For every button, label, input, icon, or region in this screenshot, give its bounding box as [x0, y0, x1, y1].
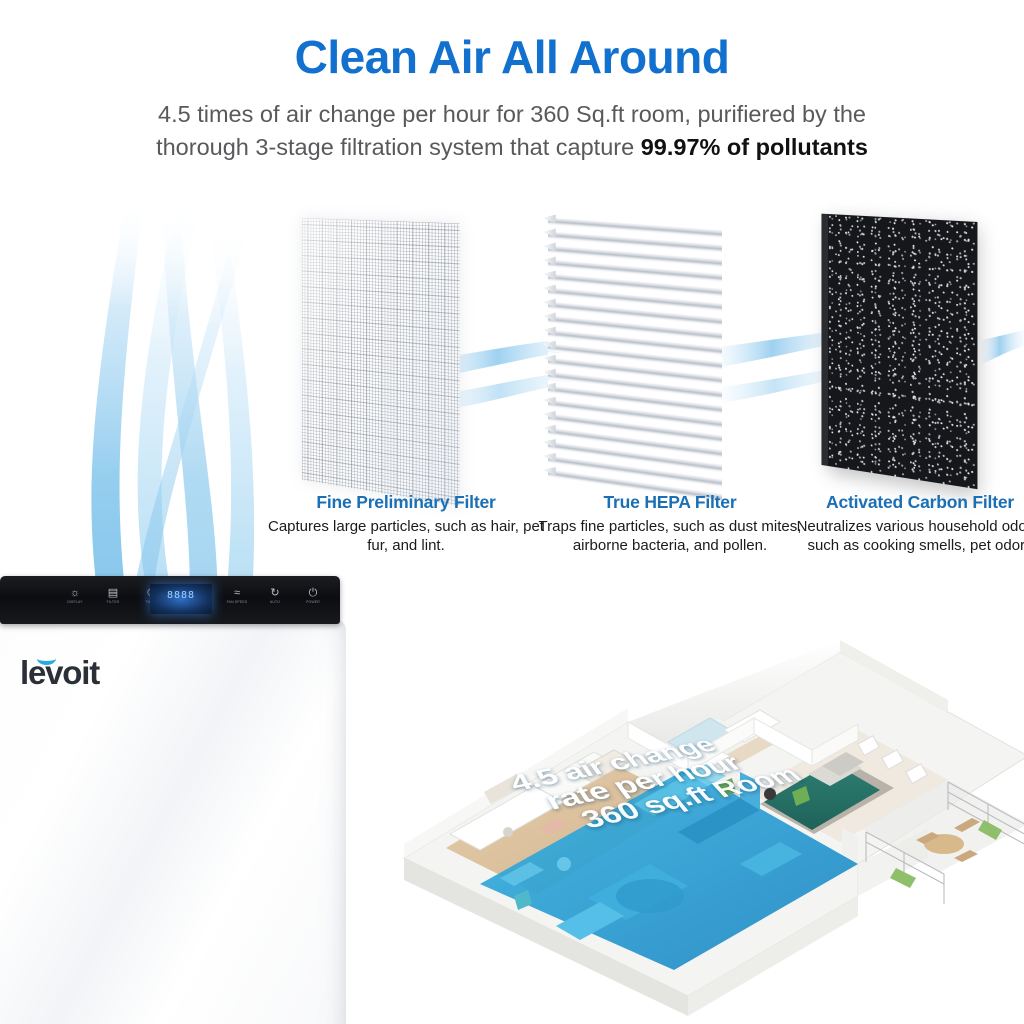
logo-text: levoit — [20, 654, 99, 691]
filter-caption-true-hepa: True HEPA Filter Traps fine particles, s… — [530, 492, 810, 555]
filter-desc-0: Captures large particles, such as hair, … — [256, 517, 556, 555]
filter-title-0: Fine Preliminary Filter — [256, 492, 556, 513]
control-panel[interactable]: ☼ DISPLAY ▤ FILTER ⏱ TIMER 8888 ≈ FAN SP… — [0, 576, 340, 624]
fine-preliminary-filter-visual — [302, 218, 460, 506]
power-button-label: POWER — [300, 600, 326, 605]
filter-caption-activated-carbon: Activated Carbon Filter Neutralizes vari… — [786, 492, 1024, 555]
infographic-canvas: Clean Air All Around 4.5 times of air ch… — [0, 0, 1024, 1024]
filter-desc-1: Traps fine particles, such as dust mites… — [530, 517, 810, 555]
filter-button-label: FILTER — [100, 600, 126, 605]
filter-icon: ▤ — [100, 587, 126, 600]
page-title: Clean Air All Around — [0, 34, 1024, 80]
air-purifier-product: ☼ DISPLAY ▤ FILTER ⏱ TIMER 8888 ≈ FAN SP… — [0, 568, 362, 1024]
filter-title-2: Activated Carbon Filter — [786, 492, 1024, 513]
levoit-logo: levoit — [20, 654, 99, 692]
display-button-label: DISPLAY — [62, 600, 88, 605]
auto-mode-button[interactable]: ↻ AUTO — [262, 587, 288, 611]
filter-desc-2: Neutralizes various household odors, suc… — [786, 517, 1024, 555]
power-icon: ⏻ — [300, 587, 326, 600]
fan-speed-button[interactable]: ≈ FAN SPEED — [224, 587, 250, 611]
fan-icon: ≈ — [224, 587, 250, 600]
power-button[interactable]: ⏻ POWER — [300, 587, 326, 611]
filter-stage-group: Fine Preliminary Filter Captures large p… — [280, 200, 1024, 500]
subtitle-highlight: 99.97% of pollutants — [641, 134, 868, 160]
display-off-button[interactable]: ☼ DISPLAY — [62, 587, 88, 611]
subtitle-line-1: 4.5 times of air change per hour for 360… — [158, 101, 866, 127]
subtitle-line-2-plain: thorough 3-stage filtration system that … — [156, 134, 641, 160]
filter-title-1: True HEPA Filter — [530, 492, 810, 513]
activated-carbon-filter-visual — [828, 214, 977, 489]
led-display: 8888 — [150, 584, 212, 614]
floorplan-illustration: 4.5 air change rate per hour 360 sq.ft R… — [388, 596, 1024, 1024]
auto-button-label: AUTO — [262, 600, 288, 605]
page-subtitle: 4.5 times of air change per hour for 360… — [52, 98, 972, 165]
true-hepa-filter-visual — [548, 212, 722, 505]
display-icon: ☼ — [62, 587, 88, 600]
fan-speed-button-label: FAN SPEED — [224, 600, 250, 605]
logo-smile-icon — [37, 652, 56, 665]
auto-icon: ↻ — [262, 587, 288, 600]
filter-reset-button[interactable]: ▤ FILTER — [100, 587, 126, 611]
filter-caption-fine-preliminary: Fine Preliminary Filter Captures large p… — [256, 492, 556, 555]
display-value: 8888 — [150, 590, 212, 601]
